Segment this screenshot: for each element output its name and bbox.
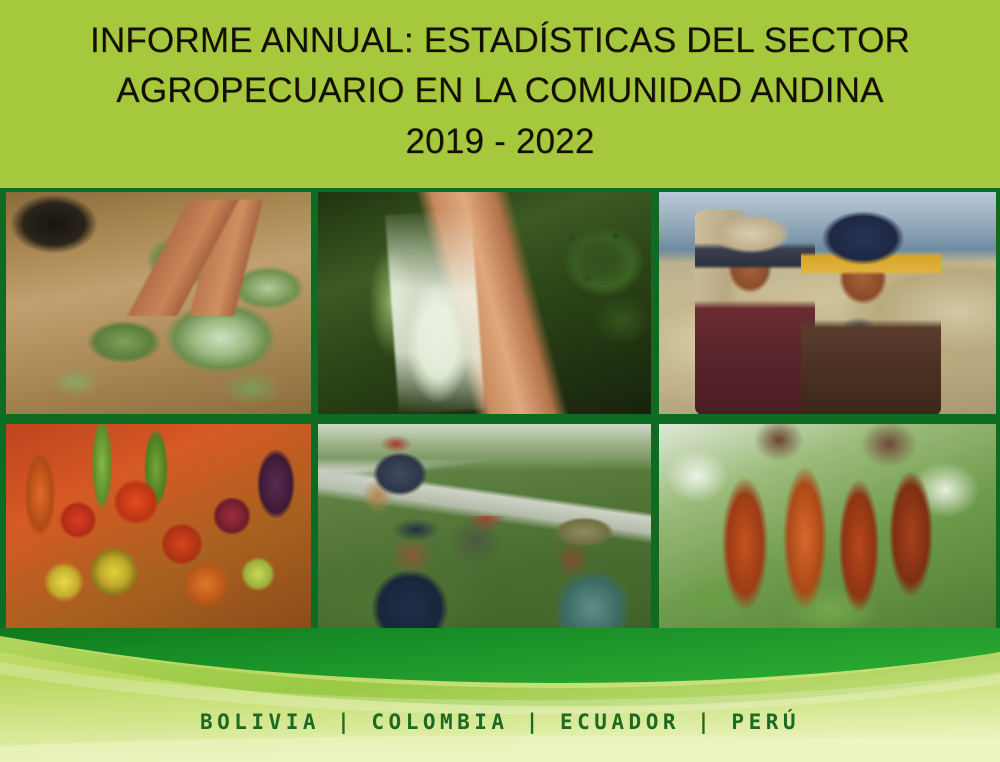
cover-header: INFORME ANNUAL: ESTADÍSTICAS DEL SECTOR …	[0, 0, 1000, 188]
photo-cauliflower-harvest-image	[6, 192, 311, 414]
page-title-line-3: 2019 - 2022	[405, 117, 594, 167]
footer-wave-graphic	[0, 628, 1000, 762]
page-title-line-1: INFORME ANNUAL: ESTADÍSTICAS DEL SECTOR	[90, 16, 910, 66]
photo-carrots-in-hands-image	[659, 424, 996, 638]
photo-broccoli-in-hand-image	[318, 192, 651, 414]
photo-andean-children	[659, 192, 996, 414]
photo-cauliflower-harvest	[6, 192, 311, 414]
page-title-line-2: AGROPECUARIO EN LA COMUNIDAD ANDINA	[116, 66, 883, 116]
photo-carrots-in-hands	[659, 424, 996, 638]
cover-footer: BOLIVIA | COLOMBIA | ECUADOR | PERÚ	[0, 628, 1000, 762]
photo-mixed-vegetables	[6, 424, 311, 638]
photo-collage	[0, 188, 1000, 650]
photo-broccoli-in-hand	[318, 192, 651, 414]
country-list: BOLIVIA | COLOMBIA | ECUADOR | PERÚ	[0, 710, 1000, 734]
photo-mixed-vegetables-image	[6, 424, 311, 638]
photo-field-workers	[318, 424, 651, 638]
photo-field-workers-image	[318, 424, 651, 638]
report-cover-page: INFORME ANNUAL: ESTADÍSTICAS DEL SECTOR …	[0, 0, 1000, 762]
photo-andean-children-image	[659, 192, 996, 414]
